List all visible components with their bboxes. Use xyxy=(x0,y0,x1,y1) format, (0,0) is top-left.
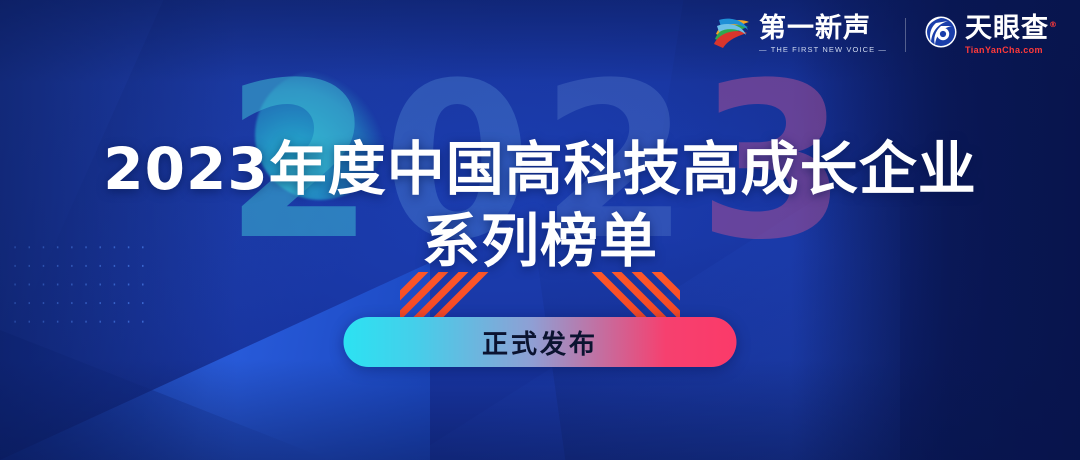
logo-bar: 第一新声 — THE FIRST NEW VOICE — 天眼查® TianYa… xyxy=(712,14,1058,55)
logo-tianyancha-text: 天眼查® TianYanCha.com xyxy=(965,15,1058,55)
headline-line-2: 系列榜单 xyxy=(0,205,1080,277)
promo-banner: 2023 2023年度中国高科技高成长企业 系列榜单 正式发布 xyxy=(0,0,1080,460)
logo-diyixinsheng[interactable]: 第一新声 — THE FIRST NEW VOICE — xyxy=(712,14,887,55)
logo-tianyancha[interactable]: 天眼查® TianYanCha.com xyxy=(924,15,1058,55)
logo-tianyancha-en: TianYanCha.com xyxy=(965,46,1058,55)
release-status-button[interactable]: 正式发布 xyxy=(344,317,737,367)
logo-divider xyxy=(905,18,906,52)
headline-line-1: 2023年度中国高科技高成长企业 xyxy=(0,133,1080,205)
logo-diyixinsheng-text: 第一新声 — THE FIRST NEW VOICE — xyxy=(759,15,887,54)
logo-tianyancha-cn: 天眼查® xyxy=(965,15,1058,42)
logo-diyixinsheng-en: — THE FIRST NEW VOICE — xyxy=(759,46,887,54)
release-status-label: 正式发布 xyxy=(482,324,598,361)
camera-shutter-eye-icon xyxy=(924,15,958,54)
logo-tianyancha-cn-label: 天眼查 xyxy=(965,13,1049,44)
logo-diyixinsheng-cn: 第一新声 xyxy=(759,15,887,42)
trademark-icon: ® xyxy=(1049,20,1058,29)
swirl-ribbon-icon xyxy=(712,14,752,55)
page-title: 2023年度中国高科技高成长企业 系列榜单 xyxy=(0,133,1080,277)
